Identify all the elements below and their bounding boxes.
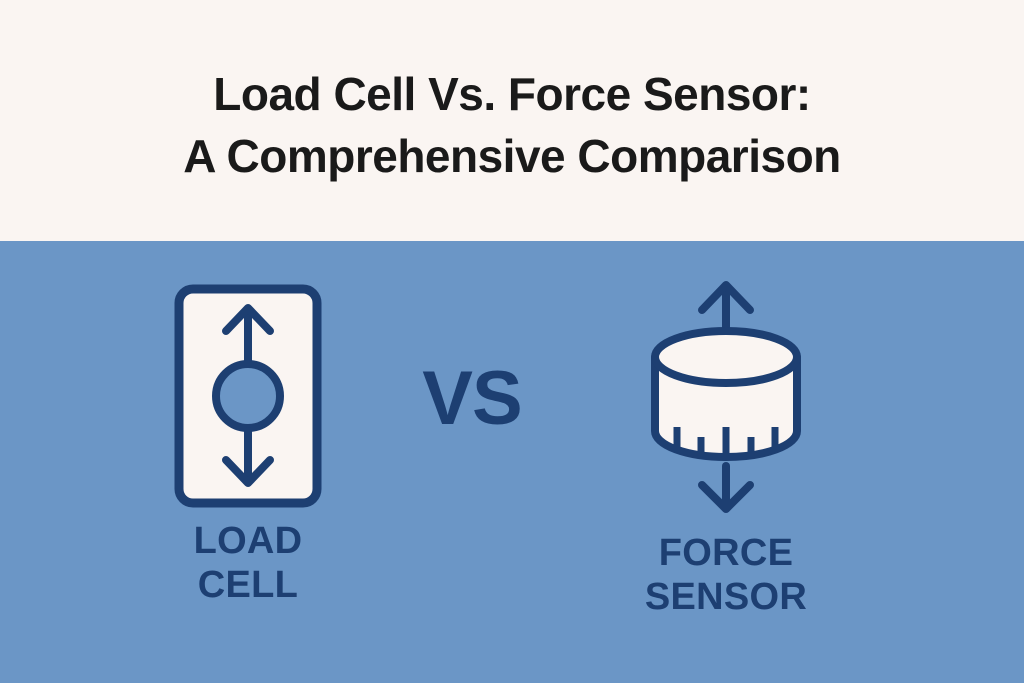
force-sensor-caption: FORCE SENSOR bbox=[596, 531, 856, 619]
load-cell-figure bbox=[118, 271, 378, 521]
comparison-item-force-sensor: FORCE SENSOR bbox=[596, 241, 856, 683]
down-arrow-icon bbox=[702, 466, 750, 509]
force-sensor-caption-line-1: FORCE bbox=[596, 531, 856, 575]
load-cell-caption: LOAD CELL bbox=[118, 519, 378, 607]
force-sensor-icon bbox=[646, 276, 806, 516]
load-cell-icon bbox=[173, 283, 323, 509]
page-title-line-1: Load Cell Vs. Force Sensor: bbox=[213, 63, 810, 125]
comparison-row: LOAD CELL VS bbox=[0, 241, 1024, 683]
force-sensor-figure bbox=[596, 271, 856, 521]
comparison-item-load-cell: LOAD CELL bbox=[118, 241, 378, 683]
header-band: Load Cell Vs. Force Sensor: A Comprehens… bbox=[0, 0, 1024, 241]
circle-shape bbox=[216, 364, 280, 428]
force-sensor-caption-line-2: SENSOR bbox=[596, 575, 856, 619]
page-title-line-2: A Comprehensive Comparison bbox=[183, 125, 841, 187]
vs-separator: VS bbox=[412, 359, 532, 439]
body-band: LOAD CELL VS bbox=[0, 241, 1024, 683]
load-cell-caption-line-2: CELL bbox=[118, 563, 378, 607]
poster-canvas: Load Cell Vs. Force Sensor: A Comprehens… bbox=[0, 0, 1024, 683]
load-cell-caption-line-1: LOAD bbox=[118, 519, 378, 563]
